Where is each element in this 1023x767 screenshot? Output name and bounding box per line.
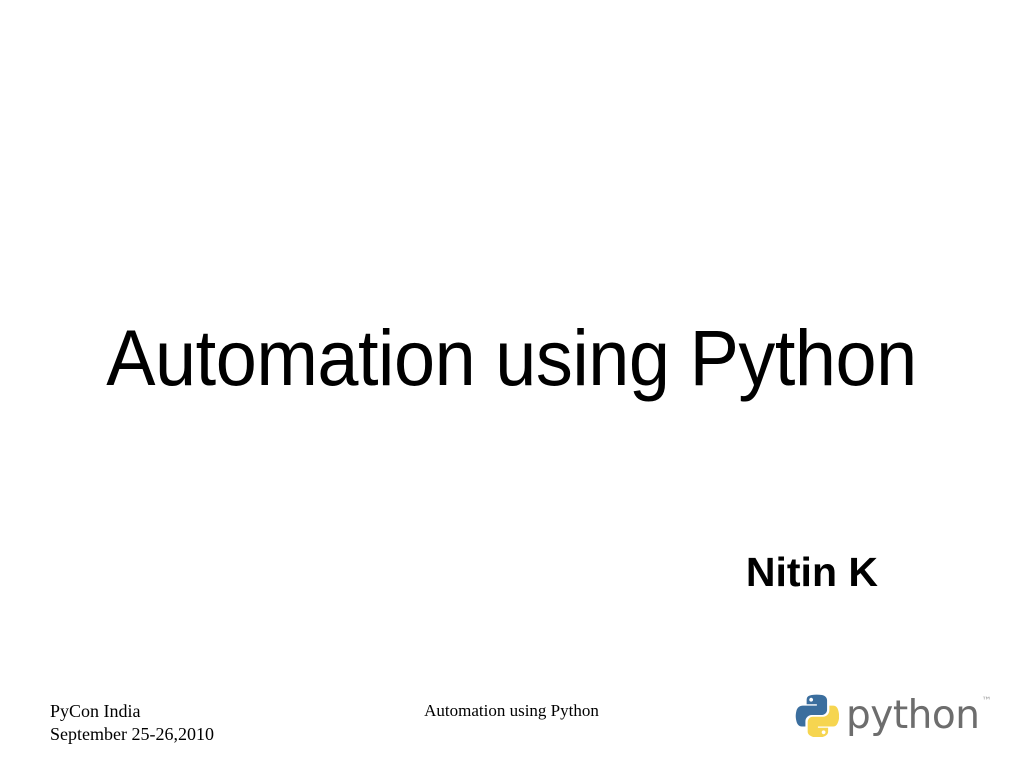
trademark-icon: ™ (981, 697, 991, 707)
python-wordmark-text: python (846, 693, 979, 738)
python-wordmark: python™ (846, 696, 991, 735)
presenter-name: Nitin K (0, 552, 878, 593)
presentation-slide: Automation using Python Nitin K PyCon In… (0, 0, 1023, 767)
python-logo: python™ (795, 690, 975, 740)
page-title: Automation using Python (33, 318, 990, 397)
footer-event-dates: September 25-26,2010 (50, 723, 214, 746)
python-snakes-icon (795, 693, 839, 737)
